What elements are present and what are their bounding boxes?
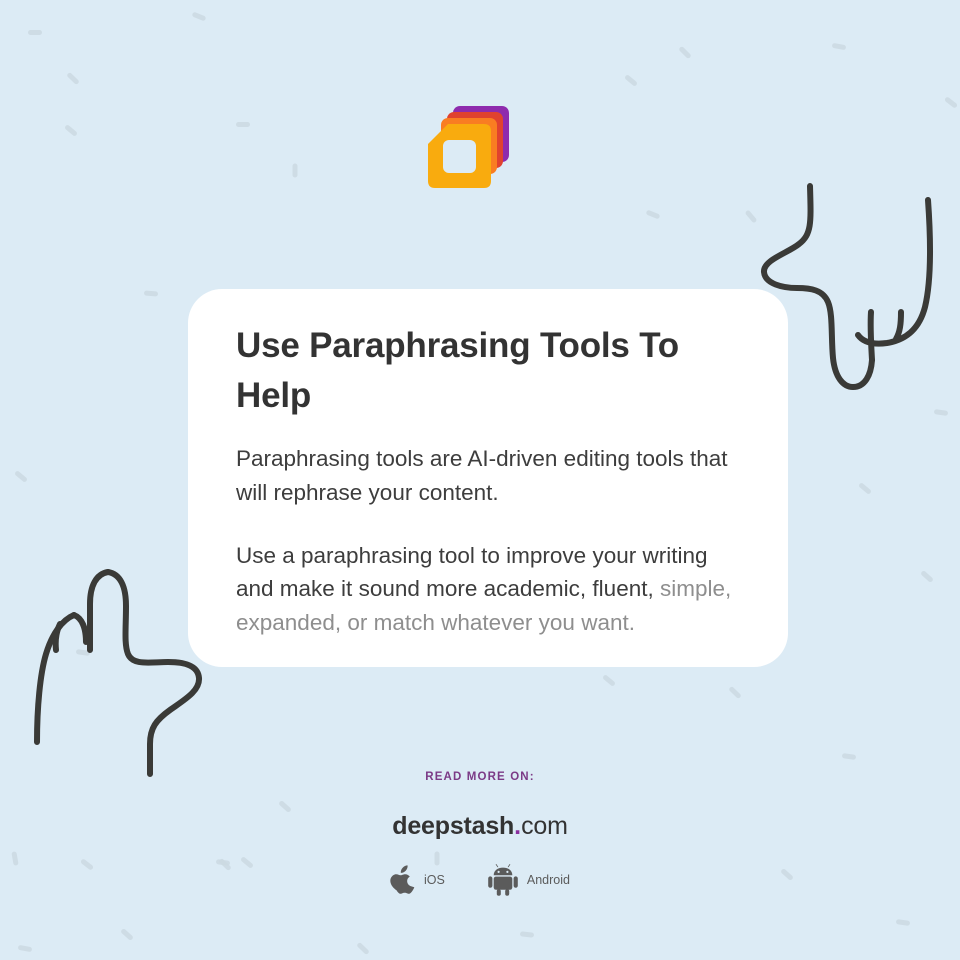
background-dash xyxy=(64,124,78,137)
store-badge-android[interactable]: Android xyxy=(487,864,570,896)
background-dash xyxy=(896,919,911,926)
background-dash xyxy=(832,43,847,50)
background-dash xyxy=(728,686,742,699)
content-card: Use Paraphrasing Tools To Help Paraphras… xyxy=(188,289,788,667)
background-dash xyxy=(624,74,638,87)
brand-wordmark[interactable]: deepstash.com xyxy=(0,812,960,841)
store-badges: iOS Android xyxy=(0,864,960,896)
background-dash xyxy=(934,409,949,416)
background-dash xyxy=(646,210,661,220)
background-dash xyxy=(120,928,134,941)
store-label-ios: iOS xyxy=(424,873,445,887)
card-paragraph-two: Use a paraphrasing tool to improve your … xyxy=(236,539,740,639)
background-dash xyxy=(602,674,616,687)
page-title: Use Paraphrasing Tools To Help xyxy=(236,321,740,420)
background-dash xyxy=(858,482,872,495)
background-dash xyxy=(144,290,158,296)
logo-svg xyxy=(424,100,524,200)
background-dash xyxy=(944,96,958,109)
background-dash xyxy=(842,753,857,760)
deepstash-logo xyxy=(424,100,524,200)
brand-name: deepstash xyxy=(392,812,514,840)
background-dash xyxy=(66,72,80,85)
read-more-label: READ MORE ON: xyxy=(0,771,960,783)
background-dash xyxy=(236,122,250,127)
background-dash xyxy=(920,570,934,583)
card-paragraph-one: Paraphrasing tools are AI-driven editing… xyxy=(236,442,740,509)
apple-icon xyxy=(390,865,416,895)
background-dash xyxy=(293,164,298,178)
background-dash xyxy=(356,942,370,955)
background-dash xyxy=(678,46,691,59)
background-dash xyxy=(18,945,33,952)
background-dash xyxy=(28,30,42,35)
background-dash xyxy=(520,931,534,937)
store-badge-ios[interactable]: iOS xyxy=(390,865,445,895)
background-dash xyxy=(14,470,28,483)
background-dash xyxy=(192,12,207,22)
android-icon xyxy=(487,864,519,896)
card-paragraph-two-visible: Use a paraphrasing tool to improve your … xyxy=(236,543,707,601)
deepstash-share-card: Use Paraphrasing Tools To Help Paraphras… xyxy=(0,0,960,960)
brand-tld: com xyxy=(521,812,568,840)
logo-inner-hole xyxy=(443,140,476,173)
card-inner: Use Paraphrasing Tools To Help Paraphras… xyxy=(188,289,788,639)
store-label-android: Android xyxy=(527,873,570,887)
